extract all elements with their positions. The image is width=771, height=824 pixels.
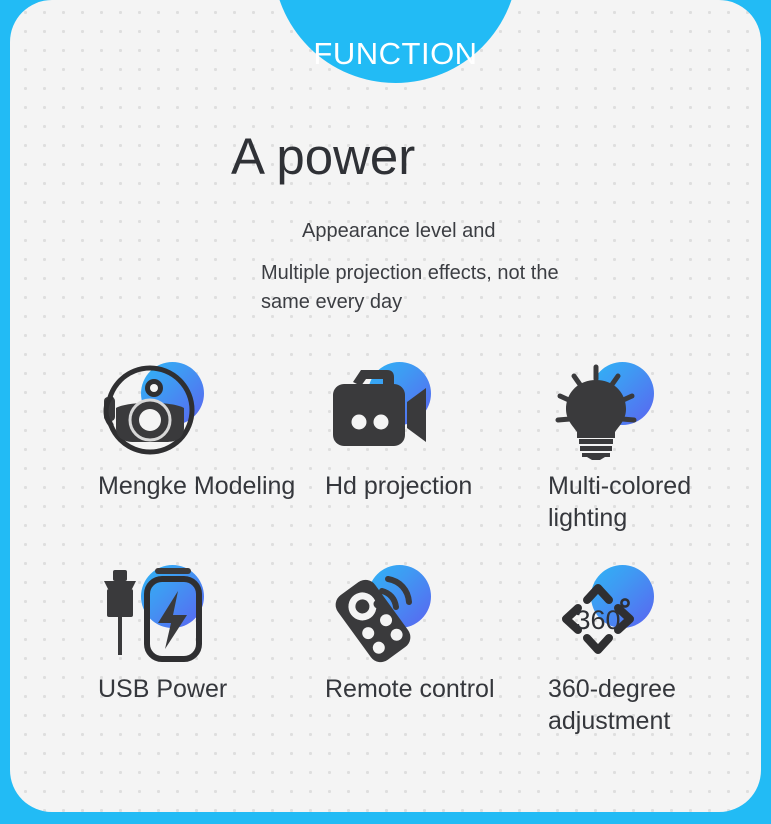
function-badge-label: FUNCTION bbox=[313, 38, 477, 69]
feature-label: USB Power bbox=[98, 673, 298, 705]
lightbulb-icon bbox=[548, 360, 668, 460]
icon-wrapper bbox=[325, 360, 445, 460]
feature-item-usb-power: USB Power bbox=[98, 563, 311, 737]
icon-wrapper: 360 bbox=[548, 563, 668, 663]
usb-battery-icon bbox=[98, 563, 218, 663]
feature-item-multi-colored-lighting: Multi-colored lighting bbox=[548, 360, 761, 534]
feature-item-360-degree-adjustment: 360 360-degree adjustment bbox=[548, 563, 761, 737]
icon-wrapper bbox=[325, 563, 445, 663]
feature-grid: Mengke Modeling Hd projection bbox=[10, 360, 761, 737]
subtitle-line-2: Multiple projection effects, not the sam… bbox=[261, 259, 591, 317]
rotate-360-label: 360 bbox=[575, 605, 620, 635]
page-title: A power bbox=[231, 131, 415, 182]
icon-wrapper bbox=[548, 360, 668, 460]
icon-wrapper bbox=[98, 360, 218, 460]
feature-label: Multi-colored lighting bbox=[548, 470, 748, 534]
feature-label: Remote control bbox=[325, 673, 525, 705]
feature-item-mengke-modeling: Mengke Modeling bbox=[98, 360, 311, 534]
icon-wrapper bbox=[98, 563, 218, 663]
feature-item-remote-control: Remote control bbox=[325, 563, 538, 737]
function-badge: FUNCTION bbox=[273, 0, 518, 83]
projector-face-icon bbox=[98, 360, 218, 460]
feature-row: USB Power bbox=[10, 563, 761, 737]
feature-label: Hd projection bbox=[325, 470, 525, 502]
camcorder-icon bbox=[325, 360, 445, 460]
feature-item-hd-projection: Hd projection bbox=[325, 360, 538, 534]
remote-control-icon bbox=[325, 563, 445, 663]
feature-label: 360-degree adjustment bbox=[548, 673, 748, 737]
subtitle-line-1: Appearance level and bbox=[302, 218, 495, 245]
infographic-frame: FUNCTION A power Appearance level and Mu… bbox=[0, 0, 771, 824]
feature-card: FUNCTION A power Appearance level and Mu… bbox=[10, 0, 761, 812]
rotate-360-icon: 360 bbox=[548, 563, 668, 663]
feature-row: Mengke Modeling Hd projection bbox=[10, 360, 761, 534]
feature-label: Mengke Modeling bbox=[98, 470, 298, 502]
